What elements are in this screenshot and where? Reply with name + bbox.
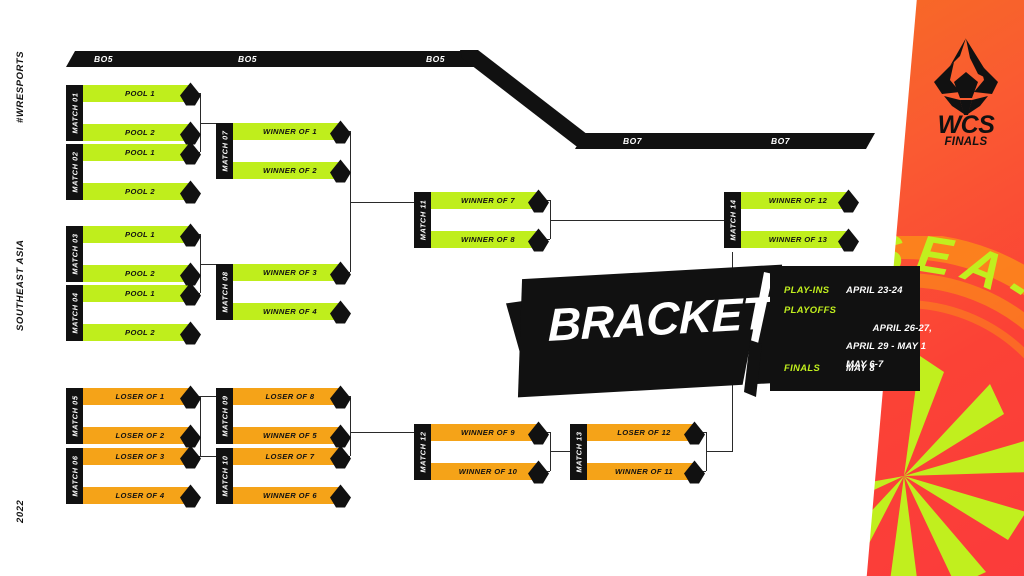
match-slot[interactable]: WINNER OF 8 — [422, 231, 540, 248]
slot-label: WINNER OF 11 — [578, 467, 696, 476]
slot-label: LOSER OF 3 — [74, 452, 192, 461]
bracket-poster: S-SEA-SEA-SEA-S WCS FINALS #WRESPORTS SO… — [0, 0, 1024, 576]
match-slot[interactable]: WINNER OF 7 — [422, 192, 540, 209]
slot-gem-marker — [180, 385, 201, 408]
match-07-tag: MATCH 07 — [216, 123, 233, 179]
banner-bo5-label-1: BO5 — [94, 54, 113, 64]
slot-gem-marker — [330, 120, 351, 143]
match-slot[interactable]: POOL 2 — [74, 324, 192, 341]
slot-gem-marker — [180, 141, 201, 164]
slot-gem-marker — [180, 424, 201, 447]
slot-label: WINNER OF 8 — [422, 235, 540, 244]
match-slot[interactable]: POOL 1 — [74, 85, 192, 102]
match-slot[interactable]: POOL 2 — [74, 183, 192, 200]
match-13-tag-label: MATCH 13 — [574, 431, 583, 472]
match-slot[interactable]: WINNER OF 2 — [224, 162, 342, 179]
match-block[interactable]: MATCH 12WINNER OF 9WINNER OF 10 — [414, 424, 546, 480]
schedule-info-plate: PLAY-INS APRIL 23-24 PLAYOFFS APRIL 26-2… — [770, 266, 920, 391]
match-03-tag-label: MATCH 03 — [70, 233, 79, 274]
slot-gem-marker — [330, 445, 351, 468]
slot-gem-marker — [528, 228, 549, 251]
slot-gem-marker — [684, 460, 705, 483]
match-03-tag: MATCH 03 — [66, 226, 83, 282]
banner-bo7-label-2: BO7 — [771, 136, 790, 146]
slot-gem-marker — [180, 223, 201, 246]
banner-diagonal-connector — [460, 50, 600, 146]
match-slot[interactable]: WINNER OF 9 — [422, 424, 540, 441]
slot-gem-marker — [330, 261, 351, 284]
match-slot[interactable]: LOSER OF 8 — [224, 388, 342, 405]
gem-marker-icon — [330, 120, 351, 143]
match-block[interactable]: MATCH 01POOL 1POOL 2 — [66, 85, 198, 141]
slot-gem-marker — [684, 421, 705, 444]
gem-marker-icon — [180, 385, 201, 408]
match-01-tag-label: MATCH 01 — [70, 92, 79, 133]
gem-marker-icon — [180, 282, 201, 305]
match-slot[interactable]: LOSER OF 2 — [74, 427, 192, 444]
slot-gem-marker — [838, 189, 859, 212]
slot-gem-marker — [180, 484, 201, 507]
match-slot[interactable]: POOL 1 — [74, 144, 192, 161]
connector-line — [350, 202, 424, 203]
match-block[interactable]: MATCH 07WINNER OF 1WINNER OF 2 — [216, 123, 348, 179]
crystal-gem-icon — [920, 36, 1012, 116]
gem-marker-icon — [180, 321, 201, 344]
slot-label: WINNER OF 2 — [224, 166, 342, 175]
logo-wordmark: WCS FINALS — [920, 114, 1012, 148]
gem-marker-icon — [180, 180, 201, 203]
banner-bo5-label-3: BO5 — [426, 54, 445, 64]
slot-label: POOL 2 — [74, 187, 192, 196]
slot-label: WINNER OF 3 — [224, 268, 342, 277]
match-02-tag: MATCH 02 — [66, 144, 83, 200]
match-07-tag-label: MATCH 07 — [220, 130, 229, 171]
gem-marker-icon — [180, 484, 201, 507]
gem-marker-icon — [180, 82, 201, 105]
match-block[interactable]: MATCH 08WINNER OF 3WINNER OF 4 — [216, 264, 348, 320]
connector-line — [550, 220, 734, 221]
slot-gem-marker — [528, 460, 549, 483]
slot-gem-marker — [180, 180, 201, 203]
gem-marker-icon — [330, 159, 351, 182]
match-14-tag-label: MATCH 14 — [728, 199, 737, 240]
match-08-tag-label: MATCH 08 — [220, 271, 229, 312]
match-06-tag-label: MATCH 06 — [70, 455, 79, 496]
match-slot[interactable]: WINNER OF 4 — [224, 303, 342, 320]
match-slot[interactable]: WINNER OF 6 — [224, 487, 342, 504]
schedule-label-playins: PLAY-INS — [784, 284, 829, 295]
match-block[interactable]: MATCH 10LOSER OF 7WINNER OF 6 — [216, 448, 348, 504]
gem-marker-icon — [330, 484, 351, 507]
match-09-tag-label: MATCH 09 — [220, 395, 229, 436]
gem-marker-icon — [180, 424, 201, 447]
match-slot[interactable]: WINNER OF 10 — [422, 463, 540, 480]
slot-label: LOSER OF 12 — [578, 428, 696, 437]
gem-marker-icon — [838, 189, 859, 212]
match-10-tag-label: MATCH 10 — [220, 455, 229, 496]
match-block[interactable]: MATCH 06LOSER OF 3LOSER OF 4 — [66, 448, 198, 504]
gem-marker-icon — [528, 228, 549, 251]
match-05-tag: MATCH 05 — [66, 388, 83, 444]
match-12-tag-label: MATCH 12 — [418, 431, 427, 472]
gem-marker-icon — [180, 445, 201, 468]
match-10-tag: MATCH 10 — [216, 448, 233, 504]
slot-label: WINNER OF 4 — [224, 307, 342, 316]
slot-label: LOSER OF 8 — [224, 392, 342, 401]
slot-gem-marker — [528, 189, 549, 212]
gem-marker-icon — [330, 385, 351, 408]
slot-label: LOSER OF 1 — [74, 392, 192, 401]
banner-bo5-label-2: BO5 — [238, 54, 257, 64]
slot-label: WINNER OF 12 — [732, 196, 850, 205]
match-slot[interactable]: POOL 2 — [74, 265, 192, 282]
match-slot[interactable]: LOSER OF 4 — [74, 487, 192, 504]
match-11-tag: MATCH 11 — [414, 192, 431, 248]
wcs-finals-logo: WCS FINALS — [920, 36, 1012, 176]
slot-gem-marker — [180, 82, 201, 105]
gem-marker-icon — [180, 141, 201, 164]
match-slot[interactable]: LOSER OF 12 — [578, 424, 696, 441]
slot-label: POOL 1 — [74, 289, 192, 298]
slot-label: LOSER OF 4 — [74, 491, 192, 500]
banner-bo7: BO7 BO7 — [575, 133, 875, 149]
gem-marker-icon — [684, 421, 705, 444]
match-block[interactable]: MATCH 11WINNER OF 7WINNER OF 8 — [414, 192, 546, 248]
match-slot[interactable]: WINNER OF 13 — [732, 231, 850, 248]
slot-label: WINNER OF 10 — [422, 467, 540, 476]
match-04-tag: MATCH 04 — [66, 285, 83, 341]
match-11-tag-label: MATCH 11 — [418, 200, 427, 241]
gem-marker-icon — [684, 460, 705, 483]
match-slot[interactable]: WINNER OF 12 — [732, 192, 850, 209]
gem-marker-icon — [330, 424, 351, 447]
match-slot[interactable]: WINNER OF 3 — [224, 264, 342, 281]
match-slot[interactable]: POOL 2 — [74, 124, 192, 141]
slot-label: POOL 1 — [74, 148, 192, 157]
slot-gem-marker — [330, 385, 351, 408]
slot-label: WINNER OF 6 — [224, 491, 342, 500]
slot-gem-marker — [838, 228, 859, 251]
match-slot[interactable]: WINNER OF 11 — [578, 463, 696, 480]
gem-marker-icon — [330, 300, 351, 323]
slot-gem-marker — [180, 445, 201, 468]
bracket-title-text: BRACKET — [548, 290, 758, 348]
schedule-dates-playins: APRIL 23-24 — [846, 284, 903, 295]
slot-gem-marker — [330, 300, 351, 323]
match-09-tag: MATCH 09 — [216, 388, 233, 444]
match-slot[interactable]: LOSER OF 7 — [224, 448, 342, 465]
banner-bo7-label-1: BO7 — [623, 136, 642, 146]
match-slot[interactable]: WINNER OF 5 — [224, 427, 342, 444]
gem-marker-icon — [528, 460, 549, 483]
connector-line — [706, 451, 732, 452]
slot-gem-marker — [330, 159, 351, 182]
match-block[interactable]: MATCH 04POOL 1POOL 2 — [66, 285, 198, 341]
match-02-tag-label: MATCH 02 — [70, 151, 79, 192]
match-14-tag: MATCH 14 — [724, 192, 741, 248]
logo-finals-text: FINALS — [920, 137, 1012, 149]
gem-marker-icon — [180, 223, 201, 246]
connector-line — [350, 432, 424, 433]
side-label-hashtag: #WRESPORTS — [15, 51, 26, 123]
match-slot[interactable]: WINNER OF 1 — [224, 123, 342, 140]
slot-gem-marker — [330, 424, 351, 447]
match-06-tag: MATCH 06 — [66, 448, 83, 504]
slot-gem-marker — [528, 421, 549, 444]
match-01-tag: MATCH 01 — [66, 85, 83, 141]
slot-label: WINNER OF 9 — [422, 428, 540, 437]
gem-marker-icon — [330, 261, 351, 284]
match-13-tag: MATCH 13 — [570, 424, 587, 480]
schedule-dates-finals: MAY 8 — [846, 362, 875, 373]
schedule-label-playoffs: PLAYOFFS — [784, 304, 836, 315]
gem-marker-icon — [528, 189, 549, 212]
gem-marker-icon — [330, 445, 351, 468]
match-block[interactable]: MATCH 13LOSER OF 12WINNER OF 11 — [570, 424, 702, 480]
match-block[interactable]: MATCH 09LOSER OF 8WINNER OF 5 — [216, 388, 348, 444]
slot-label: WINNER OF 13 — [732, 235, 850, 244]
match-04-tag-label: MATCH 04 — [70, 292, 79, 333]
match-block[interactable]: MATCH 05LOSER OF 1LOSER OF 2 — [66, 388, 198, 444]
match-slot[interactable]: LOSER OF 3 — [74, 448, 192, 465]
slot-label: POOL 2 — [74, 269, 192, 278]
slot-label: LOSER OF 2 — [74, 431, 192, 440]
slot-gem-marker — [180, 321, 201, 344]
slot-label: WINNER OF 7 — [422, 196, 540, 205]
match-block[interactable]: MATCH 14WINNER OF 12WINNER OF 13 — [724, 192, 856, 248]
slot-label: WINNER OF 1 — [224, 127, 342, 136]
slot-label: WINNER OF 5 — [224, 431, 342, 440]
gem-marker-icon — [528, 421, 549, 444]
match-12-tag: MATCH 12 — [414, 424, 431, 480]
schedule-label-finals: FINALS — [784, 362, 820, 373]
banner-bo5: BO5 BO5 BO5 — [66, 51, 474, 67]
slot-label: POOL 2 — [74, 328, 192, 337]
match-slot[interactable]: POOL 1 — [74, 226, 192, 243]
slot-label: POOL 1 — [74, 89, 192, 98]
slot-gem-marker — [330, 484, 351, 507]
logo-wcs-text: WCS — [920, 114, 1012, 137]
slot-label: POOL 2 — [74, 128, 192, 137]
match-block[interactable]: MATCH 02POOL 1POOL 2 — [66, 144, 198, 200]
match-05-tag-label: MATCH 05 — [70, 395, 79, 436]
slot-label: POOL 1 — [74, 230, 192, 239]
side-label-region: SOUTHEAST ASIA — [15, 239, 26, 331]
match-08-tag: MATCH 08 — [216, 264, 233, 320]
match-block[interactable]: MATCH 03POOL 1POOL 2 — [66, 226, 198, 282]
gem-marker-icon — [838, 228, 859, 251]
slot-gem-marker — [180, 282, 201, 305]
match-slot[interactable]: LOSER OF 1 — [74, 388, 192, 405]
side-label-year: 2022 — [15, 500, 26, 523]
slot-label: LOSER OF 7 — [224, 452, 342, 461]
match-slot[interactable]: POOL 1 — [74, 285, 192, 302]
